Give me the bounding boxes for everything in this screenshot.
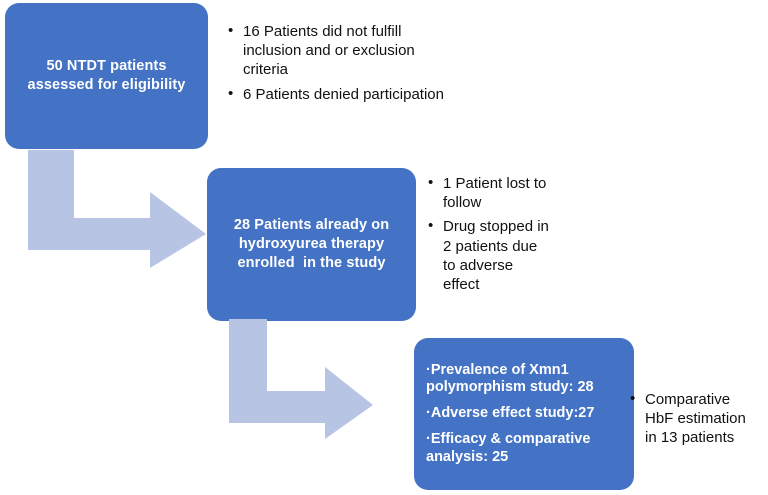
flow-box-eligibility-line-1: 50 NTDT patients bbox=[46, 57, 166, 76]
flow-arrow-enrolled-to-outcomes bbox=[229, 319, 373, 439]
note-text: 1 Patient lost to follow bbox=[443, 174, 580, 212]
flowchart-canvas: 50 NTDT patients assessed for eligibilit… bbox=[0, 0, 768, 495]
note-item: • Drug stopped in 2 patients due to adve… bbox=[428, 217, 580, 294]
bullet-icon: • bbox=[630, 389, 635, 408]
note-text: 16 Patients did not fulfill inclusion an… bbox=[243, 22, 548, 80]
note-item: • 1 Patient lost to follow bbox=[428, 174, 580, 212]
bullet-icon: • bbox=[228, 84, 233, 103]
note-item: • Comparative HbF estimation in 13 patie… bbox=[630, 390, 768, 448]
flow-box-outcomes-line-2: ·Adverse effect study:27 bbox=[426, 405, 626, 423]
flow-box-enrolled-line-3: enrolled in the study bbox=[237, 254, 385, 273]
flow-box-eligibility: 50 NTDT patients assessed for eligibilit… bbox=[5, 3, 208, 149]
flow-box-eligibility-line-2: assessed for eligibility bbox=[28, 76, 186, 95]
note-text: Comparative HbF estimation in 13 patient… bbox=[645, 390, 768, 448]
elbow-arrow-icon bbox=[229, 319, 373, 439]
note-item: • 16 Patients did not fulfill inclusion … bbox=[228, 22, 548, 80]
flow-arrow-eligibility-to-enrolled bbox=[28, 150, 206, 268]
notes-attrition: • 1 Patient lost to follow • Drug stoppe… bbox=[428, 174, 580, 299]
note-text: Drug stopped in 2 patients due to advers… bbox=[443, 217, 580, 294]
notes-hbf: • Comparative HbF estimation in 13 patie… bbox=[630, 390, 768, 453]
flow-box-outcomes-text-2: Adverse effect study:27 bbox=[431, 405, 595, 421]
flow-box-outcomes-line-1: ·Prevalence of Xmn1 polymorphism study: … bbox=[426, 362, 626, 397]
bullet-icon: • bbox=[428, 173, 433, 192]
elbow-arrow-icon bbox=[28, 150, 206, 268]
bullet-icon: • bbox=[228, 21, 233, 40]
flow-box-outcomes-text-3: Efficacy & comparative analysis: 25 bbox=[426, 431, 590, 465]
flow-box-enrolled-line-2: hydroxyurea therapy bbox=[239, 235, 384, 254]
notes-screening: • 16 Patients did not fulfill inclusion … bbox=[228, 22, 548, 109]
flow-box-enrolled-line-1: 28 Patients already on bbox=[234, 216, 389, 235]
flow-box-outcomes-text-1: Prevalence of Xmn1 polymorphism study: 2… bbox=[426, 362, 594, 396]
note-text: 6 Patients denied participation bbox=[243, 85, 548, 104]
flow-box-enrolled: 28 Patients already on hydroxyurea thera… bbox=[207, 168, 416, 321]
note-item: • 6 Patients denied participation bbox=[228, 85, 548, 104]
flow-box-outcomes-line-3: ·Efficacy & comparative analysis: 25 bbox=[426, 431, 626, 466]
bullet-icon: • bbox=[428, 216, 433, 235]
flow-box-outcomes: ·Prevalence of Xmn1 polymorphism study: … bbox=[414, 338, 634, 490]
